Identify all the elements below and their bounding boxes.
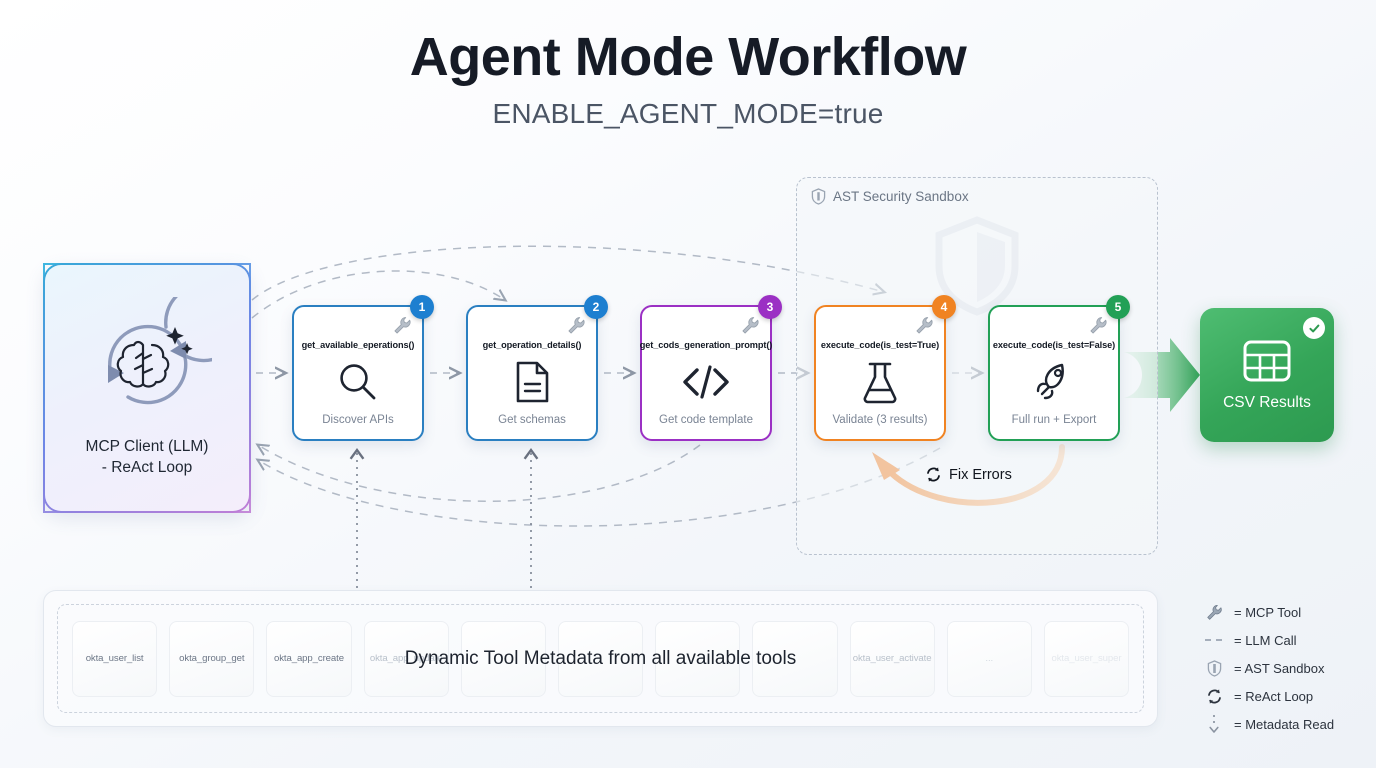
step-badge-4: 4	[932, 295, 956, 319]
page-header: Agent Mode Workflow ENABLE_AGENT_MODE=tr…	[0, 26, 1376, 130]
legend-label: = ReAct Loop	[1234, 689, 1313, 704]
tool-chip[interactable]: okta_user_super	[1044, 621, 1129, 697]
fix-errors-annotation: Fix Errors	[925, 466, 1012, 483]
shield-icon	[811, 188, 826, 205]
tool-chip[interactable]	[558, 621, 643, 697]
legend-item-ast-sandbox: = AST Sandbox	[1203, 654, 1363, 682]
wrench-icon	[1089, 316, 1108, 335]
mcp-client-label: MCP Client (LLM) - ReAct Loop	[86, 437, 209, 479]
tool-chip[interactable]: okta_app_update	[364, 621, 449, 697]
page-title: Agent Mode Workflow	[0, 26, 1376, 88]
step-card-5[interactable]: 5 execute_code(is_test=False) Full run +…	[988, 305, 1120, 441]
legend-label: = MCP Tool	[1234, 605, 1301, 620]
step-function-3: get_cods_generation_prompt()	[640, 340, 772, 350]
check-circle-icon	[1303, 317, 1325, 339]
tool-chip[interactable]: okta_user_list	[72, 621, 157, 697]
step-function-2: get_operation_details()	[483, 340, 582, 350]
dynamic-tool-metadata-panel: okta_user_list okta_group_get okta_app_c…	[43, 590, 1158, 727]
step-card-2[interactable]: 2 get_operation_details() Get schemas	[466, 305, 598, 441]
step-card-4[interactable]: 4 execute_code(is_test=True) Validate (3…	[814, 305, 946, 441]
dashed-line-icon	[1203, 636, 1225, 644]
step-caption-5: Full run + Export	[1012, 414, 1097, 426]
wrench-icon	[1203, 604, 1225, 621]
legend: = MCP Tool = LLM Call = AST Sandbox	[1203, 598, 1363, 738]
shield-icon	[1203, 660, 1225, 677]
legend-label: = LLM Call	[1234, 633, 1297, 648]
brain-react-loop-icon	[82, 297, 212, 427]
wrench-icon	[915, 316, 934, 335]
dotted-arrow-down-icon	[1203, 714, 1225, 734]
step-badge-1: 1	[410, 295, 434, 319]
flask-icon	[860, 350, 900, 414]
magnifier-icon	[337, 350, 379, 414]
rocket-icon	[1032, 350, 1076, 414]
legend-item-metadata-read: = Metadata Read	[1203, 710, 1363, 738]
llm-arc-outer	[252, 246, 884, 300]
tool-chip[interactable]: okta_app_create	[266, 621, 351, 697]
step-card-3[interactable]: 3 get_cods_generation_prompt() Get code …	[640, 305, 772, 441]
refresh-loop-icon	[925, 466, 942, 483]
tool-chip[interactable]	[655, 621, 740, 697]
tool-chip[interactable]: ...	[947, 621, 1032, 697]
legend-label: = Metadata Read	[1234, 717, 1334, 732]
page-subtitle: ENABLE_AGENT_MODE=true	[0, 98, 1376, 130]
fix-errors-label: Fix Errors	[949, 467, 1012, 483]
sandbox-label: AST Security Sandbox	[833, 189, 969, 204]
mcp-client-node[interactable]: MCP Client (LLM) - ReAct Loop	[43, 263, 251, 513]
tool-chip[interactable]: okta_group_get	[169, 621, 254, 697]
csv-results-node[interactable]: CSV Results	[1200, 308, 1334, 442]
step-caption-3: Get code template	[659, 414, 753, 426]
step-badge-5: 5	[1106, 295, 1130, 319]
sandbox-header: AST Security Sandbox	[811, 188, 969, 205]
wrench-icon	[741, 316, 760, 335]
code-brackets-icon	[680, 350, 732, 414]
step-caption-4: Validate (3 results)	[832, 414, 927, 426]
step-function-1: get_available_eperations()	[302, 340, 415, 350]
tool-chip[interactable]: okta_user_activate	[850, 621, 935, 697]
legend-item-mcp-tool: = MCP Tool	[1203, 598, 1363, 626]
step-function-5: execute_code(is_test=False)	[993, 340, 1115, 350]
legend-item-llm-call: = LLM Call	[1203, 626, 1363, 654]
step-badge-3: 3	[758, 295, 782, 319]
csv-results-label: CSV Results	[1223, 394, 1311, 412]
legend-label: = AST Sandbox	[1234, 661, 1324, 676]
tool-chip[interactable]	[461, 621, 546, 697]
step-function-4: execute_code(is_test=True)	[821, 340, 939, 350]
document-icon	[512, 350, 552, 414]
table-icon	[1242, 338, 1292, 384]
step-badge-2: 2	[584, 295, 608, 319]
step-card-1[interactable]: 1 get_available_eperations() Discover AP…	[292, 305, 424, 441]
refresh-loop-icon	[1203, 688, 1225, 705]
step-caption-1: Discover APIs	[322, 414, 394, 426]
llm-return-arc-1	[258, 445, 700, 501]
legend-item-react-loop: = ReAct Loop	[1203, 682, 1363, 710]
wrench-icon	[393, 316, 412, 335]
wrench-icon	[567, 316, 586, 335]
tool-chip-list: okta_user_list okta_group_get okta_app_c…	[57, 604, 1144, 713]
tool-chip[interactable]	[752, 621, 837, 697]
step-caption-2: Get schemas	[498, 414, 566, 426]
